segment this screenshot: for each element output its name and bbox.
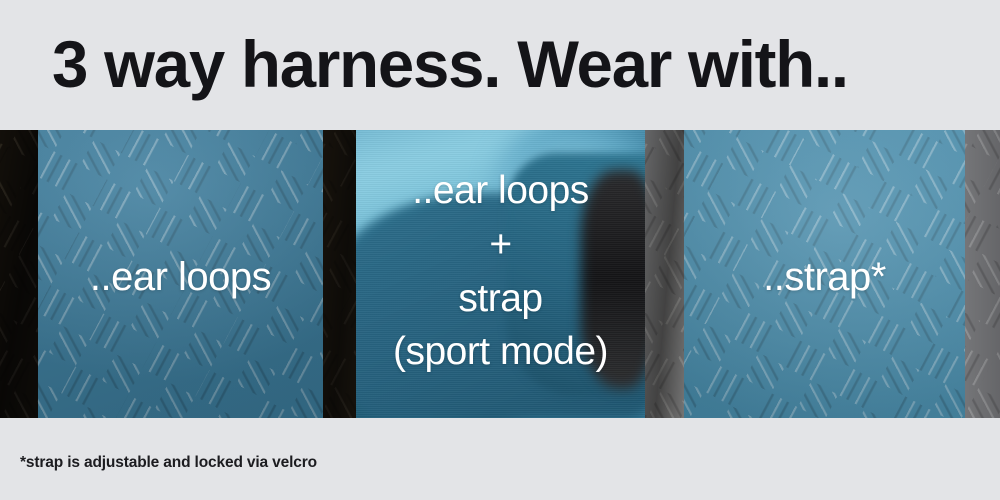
diamond-plate-texture [965,130,1000,418]
page-title: 3 way harness. Wear with.. [52,26,973,102]
left-metal-edge [0,130,38,418]
diamond-plate-texture [323,130,356,418]
panel-divider-right [645,130,684,418]
three-panel-image-band: ..ear loops ..ear loops + strap (sport m… [0,130,1000,418]
header-bar: 3 way harness. Wear with.. [0,0,1000,130]
photo-grain [356,130,645,418]
diamond-plate-texture [645,130,684,418]
diamond-plate-texture [0,130,38,418]
diamond-plate-texture [38,130,323,418]
panel-ear-loops[interactable]: ..ear loops [38,130,323,418]
diamond-plate-texture [684,130,965,418]
footer-bar: *strap is adjustable and locked via velc… [0,418,1000,500]
footnote-text: *strap is adjustable and locked via velc… [20,454,317,472]
panel-strap[interactable]: ..strap* [684,130,965,418]
right-metal-edge [965,130,1000,418]
mask-photo [356,130,645,418]
panel-divider-left [323,130,356,418]
panel-sport-mode[interactable]: ..ear loops + strap (sport mode) [356,130,645,418]
